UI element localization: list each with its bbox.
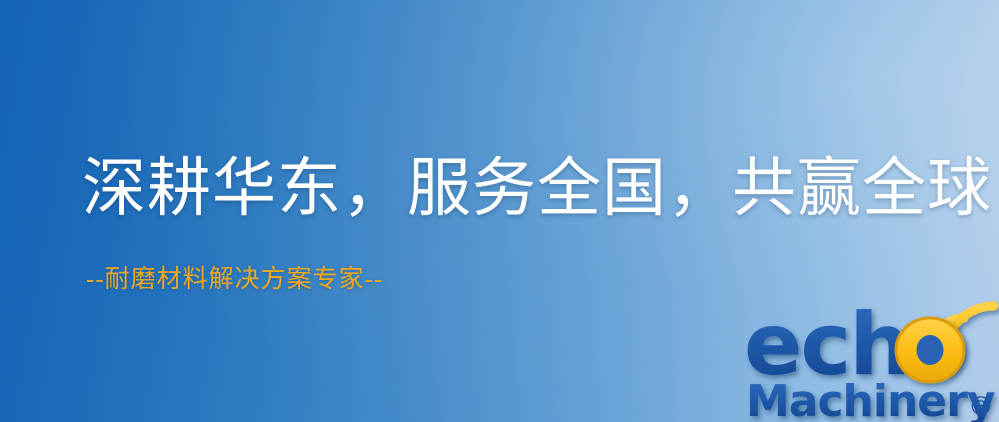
hero-banner: 深耕华东，服务全国，共赢全球 --耐磨材料解决方案专家-- (0, 0, 999, 422)
registered-trademark-icon: ® (968, 392, 994, 422)
banner-headline: 深耕华东，服务全国，共赢全球 (82, 152, 992, 226)
logo-gold-o (896, 318, 964, 382)
logo-subbrand-text: Machinery (746, 376, 995, 422)
banner-subtitle: --耐磨材料解决方案专家-- (86, 264, 383, 296)
echo-machinery-logo[interactable]: echo Machinery ® (744, 288, 999, 422)
